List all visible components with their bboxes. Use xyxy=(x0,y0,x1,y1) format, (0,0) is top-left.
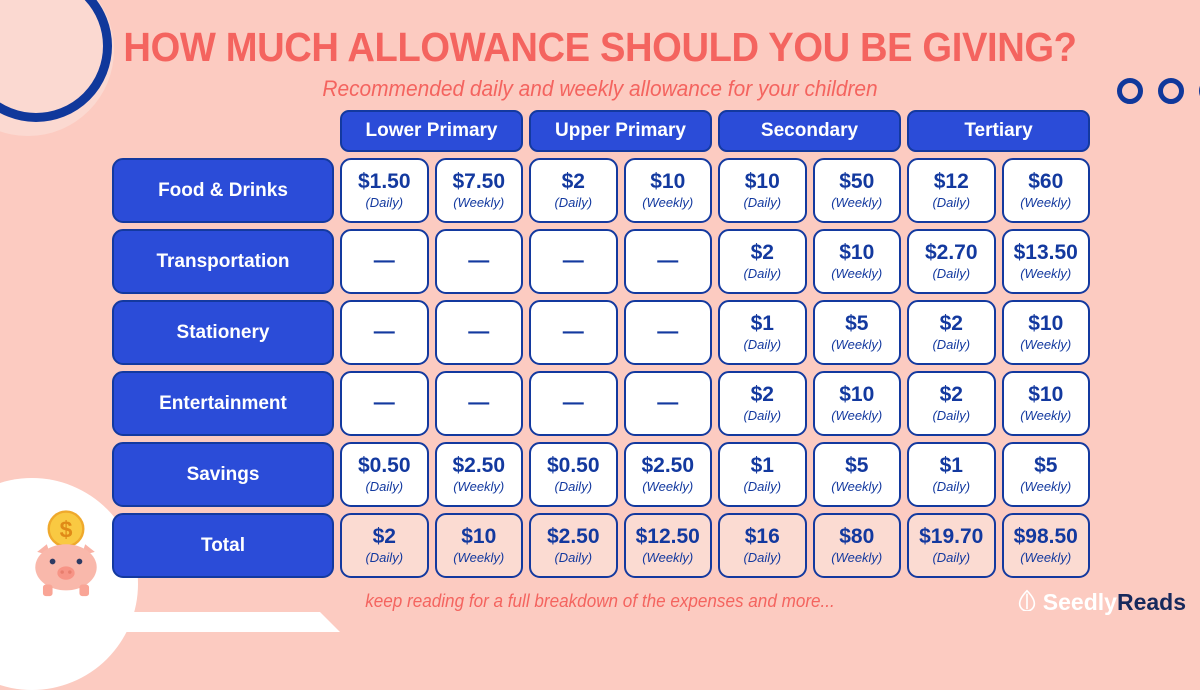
cell-r4-c3: $2.50(Weekly) xyxy=(624,442,713,507)
cell-period: (Weekly) xyxy=(831,267,882,281)
cell-r1-c6: $2.70(Daily) xyxy=(907,229,996,294)
row-label-2: Stationery xyxy=(112,300,334,365)
cell-amount: $98.50 xyxy=(1014,526,1078,548)
cell-r0-c7: $60(Weekly) xyxy=(1002,158,1091,223)
cell-amount: $0.50 xyxy=(547,455,600,477)
cell-r2-c1: — xyxy=(435,300,524,365)
cell-r4-c1: $2.50(Weekly) xyxy=(435,442,524,507)
cell-period: (Daily) xyxy=(743,480,781,494)
cell-period: (Daily) xyxy=(743,196,781,210)
footer-note: keep reading for a full breakdown of the… xyxy=(30,591,1170,612)
cell-period: (Weekly) xyxy=(453,551,504,565)
cell-period: (Weekly) xyxy=(1020,267,1071,281)
cell-period: (Daily) xyxy=(365,551,403,565)
cell-amount: $7.50 xyxy=(452,171,505,193)
cell-amount: $2.50 xyxy=(547,526,600,548)
seedly-reads-logo[interactable]: SeedlyReads xyxy=(1016,589,1186,616)
cell-amount: — xyxy=(657,321,678,343)
cell-r0-c2: $2(Daily) xyxy=(529,158,618,223)
cell-period: (Daily) xyxy=(365,480,403,494)
piggy-bank-icon: $ xyxy=(18,502,114,598)
cell-r0-c1: $7.50(Weekly) xyxy=(435,158,524,223)
cell-period: (Weekly) xyxy=(1020,338,1071,352)
cell-r5-c2: $2.50(Daily) xyxy=(529,513,618,578)
table-row: Total$2(Daily)$10(Weekly)$2.50(Daily)$12… xyxy=(112,513,1090,578)
row-label-0: Food & Drinks xyxy=(112,158,334,223)
cell-period: (Weekly) xyxy=(1020,480,1071,494)
cell-amount: $1 xyxy=(751,313,774,335)
cell-r3-c0: — xyxy=(340,371,429,436)
cell-r5-c6: $19.70(Daily) xyxy=(907,513,996,578)
cell-amount: $2 xyxy=(940,313,963,335)
cell-r3-c1: — xyxy=(435,371,524,436)
cell-period: (Daily) xyxy=(932,480,970,494)
cell-period: (Daily) xyxy=(932,551,970,565)
cell-r2-c4: $1(Daily) xyxy=(718,300,807,365)
cell-amount: $5 xyxy=(845,313,868,335)
cell-r3-c2: — xyxy=(529,371,618,436)
cell-amount: — xyxy=(563,250,584,272)
cell-r2-c2: — xyxy=(529,300,618,365)
cell-r5-c7: $98.50(Weekly) xyxy=(1002,513,1091,578)
cell-amount: $2 xyxy=(562,171,585,193)
cell-r2-c3: — xyxy=(624,300,713,365)
cell-amount: $10 xyxy=(1028,313,1063,335)
row-label-5: Total xyxy=(112,513,334,578)
cell-amount: — xyxy=(468,250,489,272)
cell-r5-c1: $10(Weekly) xyxy=(435,513,524,578)
cell-amount: $12.50 xyxy=(636,526,700,548)
row-label-4: Savings xyxy=(112,442,334,507)
table-row: Transportation————$2(Daily)$10(Weekly)$2… xyxy=(112,229,1090,294)
seed-leaf-icon xyxy=(1016,589,1038,616)
cell-period: (Weekly) xyxy=(642,480,693,494)
cell-r4-c5: $5(Weekly) xyxy=(813,442,902,507)
cell-amount: $0.50 xyxy=(358,455,411,477)
page-title: HOW MUCH ALLOWANCE SHOULD YOU BE GIVING? xyxy=(42,24,1158,71)
cell-amount: $10 xyxy=(745,171,780,193)
cell-r3-c3: — xyxy=(624,371,713,436)
cell-amount: $10 xyxy=(839,242,874,264)
cell-r0-c3: $10(Weekly) xyxy=(624,158,713,223)
cell-period: (Daily) xyxy=(554,196,592,210)
cell-r1-c1: — xyxy=(435,229,524,294)
cell-amount: — xyxy=(563,392,584,414)
cell-amount: $10 xyxy=(650,171,685,193)
cell-amount: $10 xyxy=(1028,384,1063,406)
cell-amount: $19.70 xyxy=(919,526,983,548)
cell-amount: $2 xyxy=(373,526,396,548)
group-header-1: Upper Primary xyxy=(529,110,712,152)
allowance-table: Lower PrimaryUpper PrimarySecondaryTerti… xyxy=(112,110,1090,578)
cell-period: (Weekly) xyxy=(642,551,693,565)
cell-r1-c4: $2(Daily) xyxy=(718,229,807,294)
cell-amount: $1 xyxy=(940,455,963,477)
cell-period: (Weekly) xyxy=(642,196,693,210)
cell-amount: $1 xyxy=(751,455,774,477)
cell-period: (Daily) xyxy=(743,551,781,565)
cell-period: (Daily) xyxy=(932,196,970,210)
cell-r0-c6: $12(Daily) xyxy=(907,158,996,223)
cell-r2-c7: $10(Weekly) xyxy=(1002,300,1091,365)
cell-period: (Weekly) xyxy=(831,480,882,494)
cell-r3-c7: $10(Weekly) xyxy=(1002,371,1091,436)
cell-r5-c4: $16(Daily) xyxy=(718,513,807,578)
group-header-0: Lower Primary xyxy=(340,110,523,152)
cell-r5-c5: $80(Weekly) xyxy=(813,513,902,578)
cell-period: (Weekly) xyxy=(1020,551,1071,565)
cell-period: (Daily) xyxy=(743,267,781,281)
cell-amount: $50 xyxy=(839,171,874,193)
cell-amount: — xyxy=(563,321,584,343)
cell-amount: $80 xyxy=(839,526,874,548)
cell-r3-c5: $10(Weekly) xyxy=(813,371,902,436)
cell-amount: $2.70 xyxy=(925,242,978,264)
logo-text-seedly: Seedly xyxy=(1043,589,1117,615)
cell-r4-c4: $1(Daily) xyxy=(718,442,807,507)
cell-period: (Daily) xyxy=(365,196,403,210)
table-corner-cell xyxy=(112,110,334,152)
cell-amount: $2 xyxy=(751,242,774,264)
cell-r3-c4: $2(Daily) xyxy=(718,371,807,436)
cell-amount: — xyxy=(657,250,678,272)
cell-period: (Weekly) xyxy=(831,409,882,423)
cell-amount: — xyxy=(374,250,395,272)
cell-amount: — xyxy=(657,392,678,414)
group-header-2: Secondary xyxy=(718,110,901,152)
cell-r5-c0: $2(Daily) xyxy=(340,513,429,578)
table-row: Stationery————$1(Daily)$5(Weekly)$2(Dail… xyxy=(112,300,1090,365)
row-label-3: Entertainment xyxy=(112,371,334,436)
cell-r1-c0: — xyxy=(340,229,429,294)
cell-amount: $10 xyxy=(461,526,496,548)
cell-r3-c6: $2(Daily) xyxy=(907,371,996,436)
cell-r0-c0: $1.50(Daily) xyxy=(340,158,429,223)
cell-amount: $2.50 xyxy=(641,455,694,477)
cell-r4-c2: $0.50(Daily) xyxy=(529,442,618,507)
cell-amount: $12 xyxy=(934,171,969,193)
cell-r1-c2: — xyxy=(529,229,618,294)
logo-text-reads: Reads xyxy=(1117,589,1186,615)
group-header-3: Tertiary xyxy=(907,110,1090,152)
cell-period: (Daily) xyxy=(932,338,970,352)
cell-r5-c3: $12.50(Weekly) xyxy=(624,513,713,578)
cell-period: (Weekly) xyxy=(831,196,882,210)
cell-amount: — xyxy=(468,321,489,343)
cell-r2-c0: — xyxy=(340,300,429,365)
cell-amount: $1.50 xyxy=(358,171,411,193)
cell-period: (Daily) xyxy=(743,338,781,352)
cell-period: (Weekly) xyxy=(831,338,882,352)
cell-period: (Weekly) xyxy=(831,551,882,565)
cell-r1-c3: — xyxy=(624,229,713,294)
cell-amount: $2 xyxy=(751,384,774,406)
cell-period: (Weekly) xyxy=(1020,196,1071,210)
decorative-white-wedge xyxy=(0,612,340,632)
cell-period: (Weekly) xyxy=(1020,409,1071,423)
table-row: Savings$0.50(Daily)$2.50(Weekly)$0.50(Da… xyxy=(112,442,1090,507)
cell-amount: $5 xyxy=(1034,455,1057,477)
cell-amount: — xyxy=(374,392,395,414)
cell-amount: $10 xyxy=(839,384,874,406)
cell-period: (Daily) xyxy=(554,480,592,494)
cell-period: (Weekly) xyxy=(453,480,504,494)
cell-amount: $2.50 xyxy=(452,455,505,477)
cell-r0-c5: $50(Weekly) xyxy=(813,158,902,223)
cell-period: (Daily) xyxy=(932,409,970,423)
page-subtitle: Recommended daily and weekly allowance f… xyxy=(30,76,1170,102)
cell-r1-c5: $10(Weekly) xyxy=(813,229,902,294)
svg-text:$: $ xyxy=(60,517,73,543)
cell-amount: $16 xyxy=(745,526,780,548)
cell-period: (Daily) xyxy=(743,409,781,423)
table-row: Food & Drinks$1.50(Daily)$7.50(Weekly)$2… xyxy=(112,158,1090,223)
cell-period: (Daily) xyxy=(554,551,592,565)
row-label-1: Transportation xyxy=(112,229,334,294)
cell-period: (Weekly) xyxy=(453,196,504,210)
cell-r4-c7: $5(Weekly) xyxy=(1002,442,1091,507)
cell-amount: $13.50 xyxy=(1014,242,1078,264)
cell-amount: $60 xyxy=(1028,171,1063,193)
cell-r2-c6: $2(Daily) xyxy=(907,300,996,365)
cell-amount: — xyxy=(468,392,489,414)
cell-r1-c7: $13.50(Weekly) xyxy=(1002,229,1091,294)
table-row: Entertainment————$2(Daily)$10(Weekly)$2(… xyxy=(112,371,1090,436)
table-header-row: Lower PrimaryUpper PrimarySecondaryTerti… xyxy=(112,110,1090,152)
cell-r4-c0: $0.50(Daily) xyxy=(340,442,429,507)
cell-amount: $5 xyxy=(845,455,868,477)
cell-r4-c6: $1(Daily) xyxy=(907,442,996,507)
cell-amount: $2 xyxy=(940,384,963,406)
cell-r2-c5: $5(Weekly) xyxy=(813,300,902,365)
cell-r0-c4: $10(Daily) xyxy=(718,158,807,223)
cell-amount: — xyxy=(374,321,395,343)
cell-period: (Daily) xyxy=(932,267,970,281)
